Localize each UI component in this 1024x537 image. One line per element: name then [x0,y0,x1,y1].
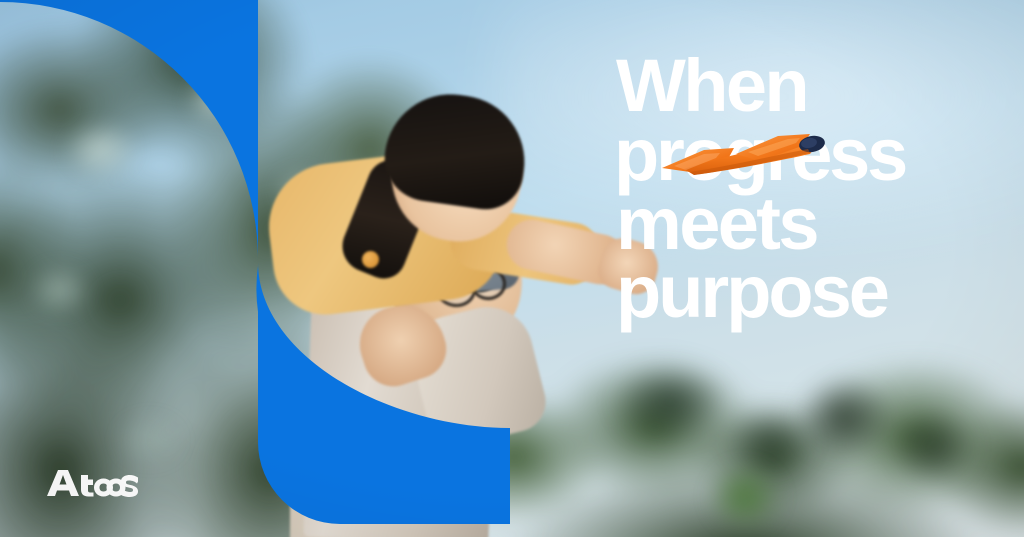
decorative-arc-top [0,0,300,290]
toy-glider-plane-icon [660,128,830,186]
headline: When progress meets purpose [614,52,1014,327]
decorative-arc-bottom [252,262,522,537]
headline-line-4: purpose [616,258,1014,327]
headline-line-3: meets [616,190,1014,259]
atos-brand-banner: When progress meets purpose [0,0,1024,537]
foliage-bush [690,427,810,537]
headline-line-1: When [616,52,1014,121]
atos-logo[interactable] [46,467,138,499]
